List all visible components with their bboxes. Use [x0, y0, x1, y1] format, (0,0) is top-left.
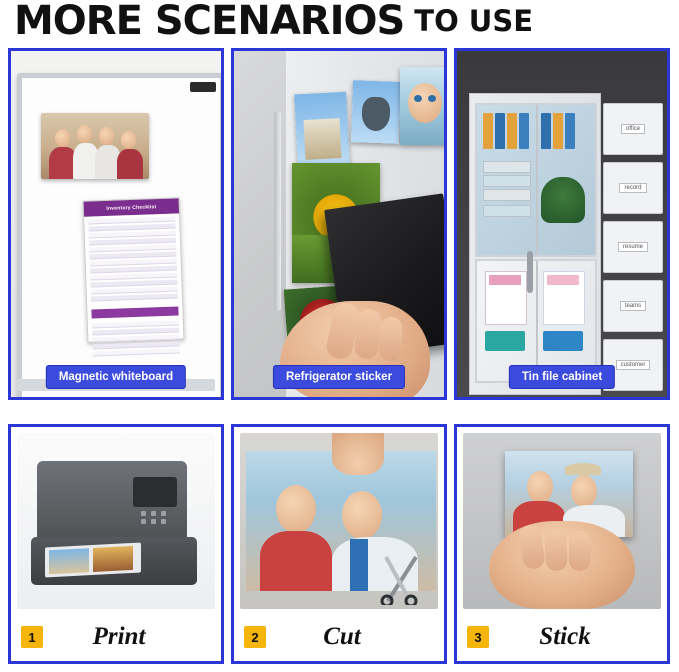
- step-image-print: [17, 433, 215, 609]
- step-label: Print: [43, 623, 195, 651]
- photo-magnet-doll: [400, 67, 447, 145]
- label-text: customer: [616, 360, 651, 370]
- photo-magnet-people: [41, 113, 149, 179]
- photo-torso: [117, 149, 143, 179]
- finger: [568, 531, 591, 572]
- step-footer-print: 1 Print: [11, 613, 221, 661]
- photo-magnet-bird: [351, 80, 401, 144]
- step-image-stick: [463, 433, 661, 609]
- printer-control-panel: [133, 477, 177, 507]
- caption-refrigerator: Refrigerator sticker: [273, 365, 405, 389]
- label-text: teams: [620, 301, 646, 311]
- step-footer-stick: 3 Stick: [457, 613, 667, 661]
- step-image-cut: [240, 433, 438, 609]
- steps-row: 1 Print: [8, 424, 671, 664]
- whiteboard-corner-trim: [190, 82, 216, 92]
- caption-whiteboard: Magnetic whiteboard: [46, 365, 186, 389]
- step-label: Cut: [266, 623, 418, 651]
- step-label: Stick: [489, 623, 641, 651]
- printed-photo-output: [45, 542, 141, 577]
- checklist-rows: [84, 213, 182, 306]
- photo-face: [99, 127, 114, 145]
- checklist-section-header: [91, 306, 178, 318]
- cabinet-side-labels: office record resume teams customer: [603, 103, 661, 398]
- scenario-panel-cabinet: office record resume teams customer Tin …: [454, 48, 670, 400]
- refrigerator-handle: [274, 111, 281, 311]
- photo-face: [527, 471, 553, 503]
- hand-holding-photo: [332, 433, 384, 475]
- scissors-icon: [378, 539, 430, 605]
- finger: [544, 528, 568, 571]
- title-main-text: MORE SCENARIOS: [14, 0, 404, 42]
- photo-face: [55, 129, 70, 147]
- step-footer-cut: 2 Cut: [234, 613, 444, 661]
- step-panel-stick: 3 Stick: [454, 424, 670, 664]
- finger: [379, 317, 403, 362]
- label-text: record: [619, 183, 646, 193]
- step-number-badge: 1: [21, 626, 43, 648]
- photo-torso: [260, 531, 332, 591]
- checklist-rows-secondary: [88, 317, 184, 361]
- scenario-panel-whiteboard: Inventory Checklist Magnetic whiteboard: [8, 48, 224, 400]
- label-text: resume: [618, 242, 648, 252]
- cabinet-handle: [527, 251, 533, 293]
- label-card: record: [603, 162, 663, 214]
- scenario-row: Inventory Checklist Magnetic whiteboard: [8, 48, 671, 400]
- caption-cabinet: Tin file cabinet: [509, 365, 615, 389]
- cabinet-glass-doors: [475, 103, 597, 257]
- step-number-badge: 2: [244, 626, 266, 648]
- label-text: office: [621, 124, 645, 134]
- photo-face: [571, 475, 597, 507]
- scenario-panel-refrigerator: Refrigerator sticker: [231, 48, 447, 400]
- step-number-badge: 3: [467, 626, 489, 648]
- title-sub-text: TO USE: [414, 0, 533, 44]
- photo-face: [342, 491, 382, 539]
- label-card: teams: [603, 280, 663, 332]
- photo-face: [276, 485, 316, 533]
- photo-magnet-sky: [294, 92, 350, 167]
- step-panel-cut: 2 Cut: [231, 424, 447, 664]
- photo-face: [77, 125, 92, 143]
- label-card: office: [603, 103, 663, 155]
- label-card: resume: [603, 221, 663, 273]
- page-title: MORE SCENARIOS TO USE: [0, 0, 679, 44]
- step-panel-print: 1 Print: [8, 424, 224, 664]
- product-infographic: MORE SCENARIOS TO USE Inventory Che: [0, 0, 679, 672]
- checklist-document: Inventory Checklist: [83, 197, 185, 342]
- photo-face: [121, 131, 136, 149]
